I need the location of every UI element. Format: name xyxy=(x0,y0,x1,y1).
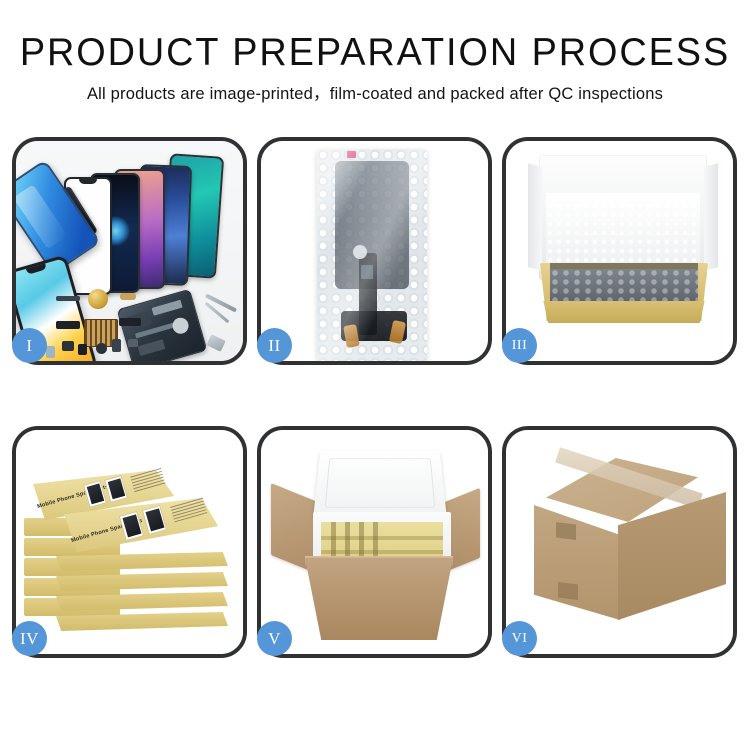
tweezers-tool xyxy=(205,294,237,313)
button-part xyxy=(96,343,107,354)
step-4-image: Mobile Phone Spare Parts Mobile Phone Sp… xyxy=(16,430,243,654)
header: PRODUCT PREPARATION PROCESS All products… xyxy=(0,0,750,103)
phone-notch xyxy=(79,179,97,184)
speaker-part xyxy=(88,289,108,309)
process-step-panel-3: III xyxy=(502,137,737,365)
process-step-panel-4: Mobile Phone Spare Parts Mobile Phone Sp… xyxy=(12,426,247,658)
step-1-image xyxy=(16,141,243,361)
camera-module-part xyxy=(62,341,74,351)
small-component-part xyxy=(112,339,121,352)
phone-notch xyxy=(26,263,47,274)
gold-connector-part xyxy=(120,293,136,300)
small-component-part xyxy=(128,339,138,347)
step-badge-5: V xyxy=(257,621,292,656)
grey-foam-padding xyxy=(550,269,698,304)
step-badge-4: IV xyxy=(12,621,47,656)
step-badge-2: II xyxy=(257,328,292,363)
infographic-page: PRODUCT PREPARATION PROCESS All products… xyxy=(0,0,750,750)
step-badge-3: III xyxy=(502,328,537,363)
step-badge-6: VI xyxy=(502,621,537,656)
process-step-panel-6: VI xyxy=(502,426,737,658)
flex-cable-part xyxy=(56,296,80,301)
page-subtitle: All products are image-printed，film-coat… xyxy=(0,86,750,103)
screwdriver-tool xyxy=(206,334,226,352)
step-3-image xyxy=(506,141,733,361)
flex-cable-part xyxy=(56,321,80,329)
carton-left-face xyxy=(534,505,620,620)
kraft-box-front-panel xyxy=(540,301,708,323)
step-6-image xyxy=(506,430,733,654)
process-step-panel-2: II xyxy=(257,137,492,365)
step-badge-1: I xyxy=(12,328,47,363)
flex-cable-part xyxy=(119,318,141,326)
step-2-image xyxy=(261,141,488,361)
bubble-wrap-bag xyxy=(317,149,427,361)
page-title: PRODUCT PREPARATION PROCESS xyxy=(11,33,739,72)
screen-highlight xyxy=(16,184,68,249)
carton-hand-hole xyxy=(556,522,576,540)
foam-box-lid xyxy=(313,451,447,517)
retail-box-stack: Mobile Phone Spare Parts Mobile Phone Sp… xyxy=(24,456,236,636)
process-step-grid: I II xyxy=(12,137,738,682)
step-5-image xyxy=(261,430,488,654)
carton-hand-hole xyxy=(558,582,578,600)
white-foam-sheet xyxy=(546,193,700,265)
small-component-part xyxy=(78,344,87,355)
process-step-panel-5: V xyxy=(257,426,492,658)
plastic-sheen xyxy=(317,149,427,361)
process-step-panel-1: I xyxy=(12,137,247,365)
battery-part xyxy=(46,346,55,358)
carton-body xyxy=(305,558,453,640)
